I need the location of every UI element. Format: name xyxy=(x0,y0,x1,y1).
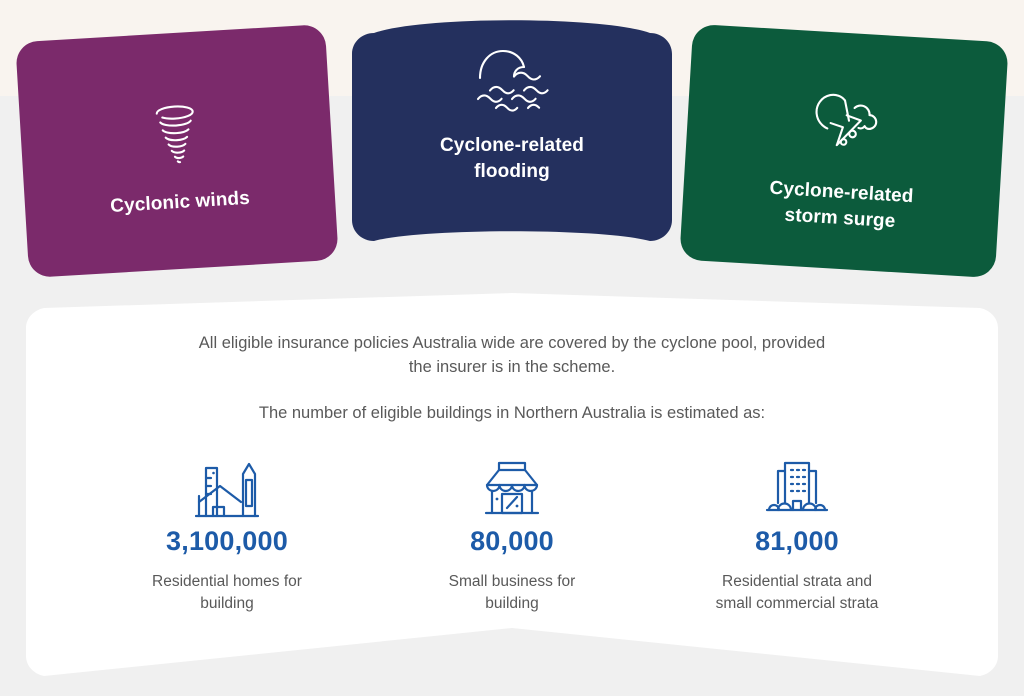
statistics-row: 3,100,000 Residential homes for building xyxy=(0,456,1024,616)
stat-caption: Small business for building xyxy=(449,571,576,616)
hazard-card-cyclone-related-flooding[interactable]: Cyclone-related flooding xyxy=(352,8,672,256)
stat-small-business: 80,000 Small business for building xyxy=(370,456,655,616)
house-and-buildings-icon xyxy=(195,456,259,518)
stat-value: 3,100,000 xyxy=(166,526,288,557)
hazard-card-label: Cyclonic winds xyxy=(110,185,251,219)
stat-caption: Residential strata and small commercial … xyxy=(716,571,879,616)
stat-residential-strata: 81,000 Residential strata and small comm… xyxy=(655,456,940,616)
hazard-card-label: Cyclone-related flooding xyxy=(440,133,584,184)
hazard-card-row: Cyclonic winds Cyclone-related xyxy=(0,0,1024,300)
stat-caption: Residential homes for building xyxy=(152,571,302,616)
stat-residential-homes: 3,100,000 Residential homes for building xyxy=(85,456,370,616)
intro-secondary-text: The number of eligible buildings in Nort… xyxy=(152,402,872,426)
stat-value: 80,000 xyxy=(470,526,554,557)
intro-primary-text: All eligible insurance policies Australi… xyxy=(192,332,832,380)
stat-value: 81,000 xyxy=(755,526,839,557)
apartment-block-icon xyxy=(765,456,829,518)
info-panel: All eligible insurance policies Australi… xyxy=(0,288,1024,696)
hazard-card-label: Cyclone-related storm surge xyxy=(767,176,914,236)
hazard-card-cyclone-related-storm-surge[interactable]: Cyclone-related storm surge xyxy=(679,24,1008,278)
shopfront-icon xyxy=(481,456,543,518)
hazard-card-cyclonic-winds[interactable]: Cyclonic winds xyxy=(15,24,338,278)
wave-flood-icon xyxy=(474,46,550,117)
tornado-icon xyxy=(146,101,206,171)
storm-cloud-lightning-icon xyxy=(805,91,885,164)
